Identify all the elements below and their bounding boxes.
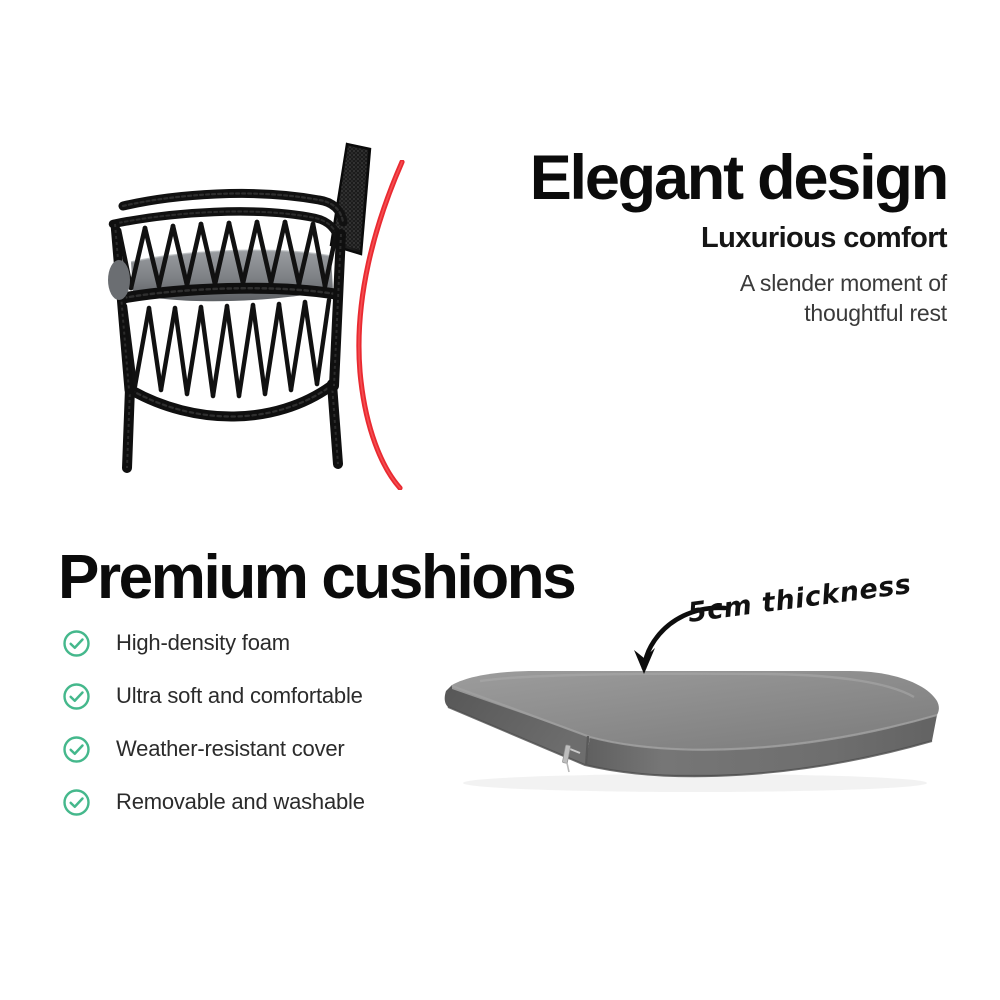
product-feature-panel: Elegant design Luxurious comfort A slend… [0,0,1000,1000]
list-item: Ultra soft and comfortable [62,670,422,722]
tagline-line-1: A slender moment of [420,269,947,298]
top-text-block: Elegant design Luxurious comfort A slend… [420,148,947,328]
tagline-line-2: thoughtful rest [420,299,947,328]
feature-label: Ultra soft and comfortable [116,683,363,709]
headline-premium-cushions: Premium cushions [58,547,574,609]
list-item: High-density foam [62,617,422,669]
feature-label: Removable and washable [116,789,365,815]
check-circle-icon [62,682,91,711]
check-circle-icon [62,629,91,658]
list-item: Removable and washable [62,776,422,828]
feature-label: High-density foam [116,630,290,656]
subheadline-luxurious-comfort: Luxurious comfort [420,222,947,255]
feature-label: Weather-resistant cover [116,736,345,762]
list-item: Weather-resistant cover [62,723,422,775]
check-circle-icon [62,788,91,817]
headline-elegant-design: Elegant design [420,148,947,210]
chair-lower-weave [125,300,329,396]
feature-list: High-density foam Ultra soft and comfort… [62,617,422,829]
tagline-block: A slender moment of thoughtful rest [420,269,947,328]
callout-5cm-thickness: 5cm thickness [686,569,913,629]
chair-back-pillow-edge [108,260,130,300]
check-circle-icon [62,735,91,764]
